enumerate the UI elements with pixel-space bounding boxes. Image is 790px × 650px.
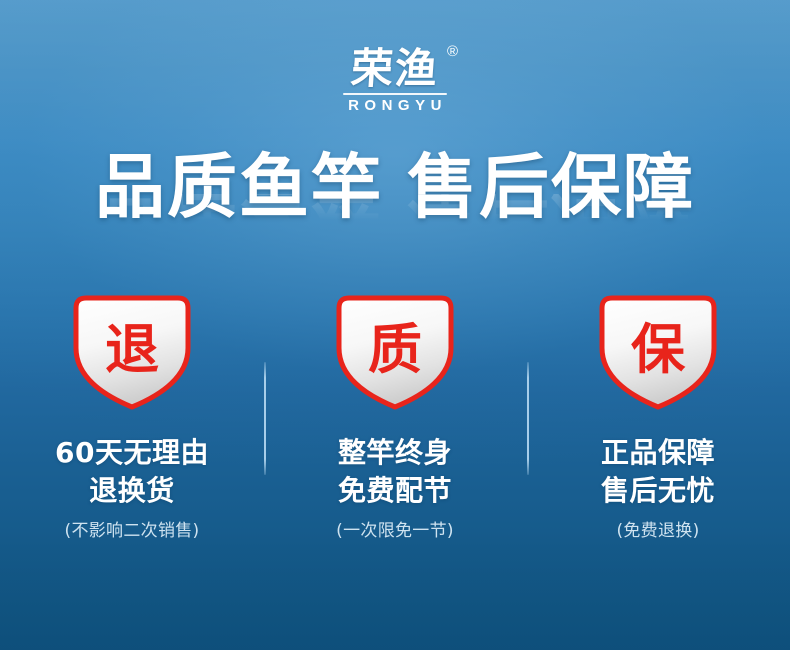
shield-badge-warranty: 保 <box>592 292 724 412</box>
feature-title-quality-line-1: 整竿终身 <box>338 434 452 472</box>
feature-title-warranty: 正品保障 售后无忧 <box>601 434 715 509</box>
headline-part-2: 售后保障 <box>407 146 695 228</box>
logo-name-en: RONGYU <box>343 98 447 113</box>
brand-logo: 荣渔 ® RONGYU <box>0 48 790 132</box>
feature-title-quality: 整竿终身 免费配节 <box>338 434 452 509</box>
feature-title-return: 60天无理由 退换货 <box>55 434 209 509</box>
feature-title-return-line-2: 退换货 <box>55 472 209 510</box>
background-bottom-fade <box>0 530 790 650</box>
shield-character-return: 退 <box>105 323 159 377</box>
feature-title-quality-line-2: 免费配节 <box>338 472 452 510</box>
logo-name-cn: 荣渔 <box>350 48 441 90</box>
feature-item-return: 退 60天无理由 退换货 (不影响二次销售) <box>1 292 264 541</box>
feature-subtitle-warranty: (免费退换) <box>616 521 699 541</box>
feature-title-return-line-1: 60天无理由 <box>55 434 209 472</box>
feature-subtitle-quality: (一次限免一节) <box>336 521 454 541</box>
promo-banner: 荣渔 ® RONGYU 品质鱼竿售后保障 品质鱼竿售后保障 <box>0 0 790 650</box>
feature-subtitle-return: (不影响二次销售) <box>65 521 200 541</box>
feature-item-warranty: 保 正品保障 售后无忧 (免费退换) <box>527 292 790 541</box>
feature-item-quality: 质 整竿终身 免费配节 (一次限免一节) <box>264 292 527 541</box>
feature-title-warranty-line-2: 售后无忧 <box>601 472 715 510</box>
shield-character-warranty: 保 <box>631 323 685 377</box>
registered-trademark-icon: ® <box>447 44 458 59</box>
shield-badge-return: 退 <box>66 292 198 412</box>
feature-title-warranty-line-1: 正品保障 <box>601 434 715 472</box>
guarantee-feature-list: 退 60天无理由 退换货 (不影响二次销售) <box>0 292 790 541</box>
headline-block: 品质鱼竿售后保障 品质鱼竿售后保障 <box>0 150 790 262</box>
shield-character-quality: 质 <box>368 323 422 377</box>
headline-part-1: 品质鱼竿 <box>95 146 383 228</box>
logo-mark: 荣渔 ® <box>351 48 439 90</box>
page-title: 品质鱼竿售后保障 <box>0 150 790 226</box>
shield-badge-quality: 质 <box>329 292 461 412</box>
logo-underline-divider <box>343 93 447 95</box>
